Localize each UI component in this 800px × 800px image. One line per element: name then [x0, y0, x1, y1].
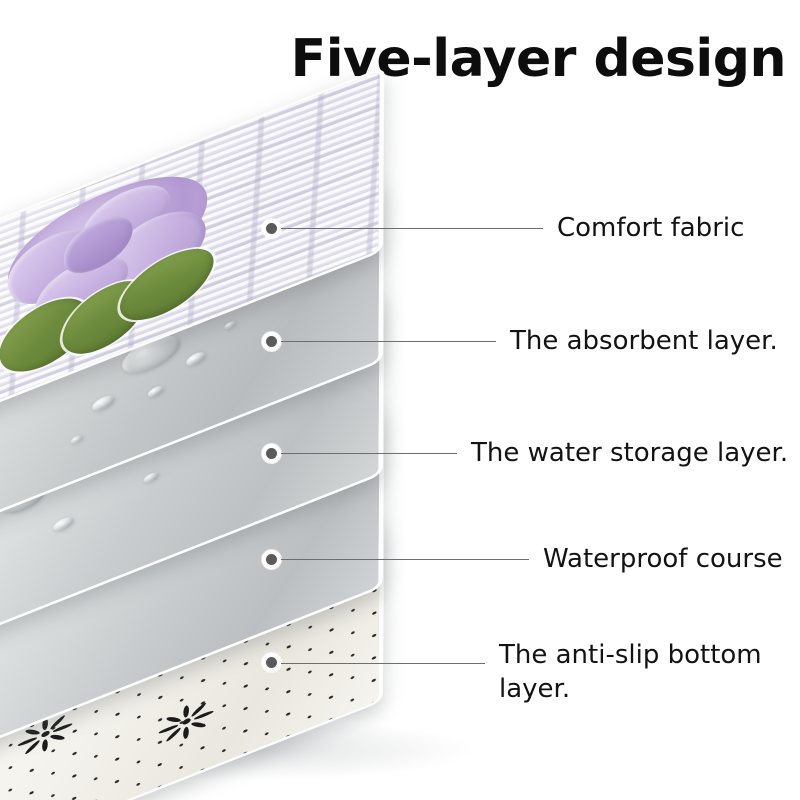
- callout-leader-line: [281, 663, 485, 664]
- callout-anti-slip-bottom-layer[interactable]: The anti-slip bottom layer.: [262, 647, 762, 707]
- callout-label-anti-slip-bottom-layer: The anti-slip bottom layer.: [499, 639, 762, 707]
- water-droplet-icon: [186, 350, 206, 369]
- callout-water-storage-layer[interactable]: The water storage layer.: [262, 437, 788, 471]
- water-droplet-icon: [92, 393, 114, 414]
- water-droplet-icon: [225, 320, 236, 331]
- callout-label-water-storage-layer: The water storage layer.: [471, 437, 788, 471]
- water-droplet-icon: [148, 384, 164, 399]
- callout-leader-line: [281, 559, 529, 560]
- callout-marker-dot[interactable]: [262, 550, 281, 569]
- callout-marker-dot[interactable]: [262, 444, 281, 463]
- water-droplet-icon: [70, 434, 82, 445]
- callout-marker-dot[interactable]: [262, 219, 281, 238]
- callout-absorbent-layer[interactable]: The absorbent layer.: [262, 325, 778, 359]
- callout-marker-dot[interactable]: [262, 332, 281, 351]
- callout-label-comfort-fabric: Comfort fabric: [557, 212, 744, 246]
- infographic-canvas: Five-layer design: [0, 0, 800, 800]
- callout-marker-dot[interactable]: [262, 653, 281, 672]
- water-droplet-icon: [54, 515, 75, 534]
- callout-label-absorbent-layer: The absorbent layer.: [510, 325, 778, 359]
- callout-leader-line: [281, 341, 496, 342]
- water-droplet-icon: [144, 471, 159, 485]
- callout-label-waterproof-course: Waterproof course: [543, 543, 783, 577]
- callout-leader-line: [281, 228, 543, 229]
- callout-comfort-fabric[interactable]: Comfort fabric: [262, 212, 744, 246]
- callout-waterproof-course[interactable]: Waterproof course: [262, 543, 783, 577]
- callout-leader-line: [281, 453, 457, 454]
